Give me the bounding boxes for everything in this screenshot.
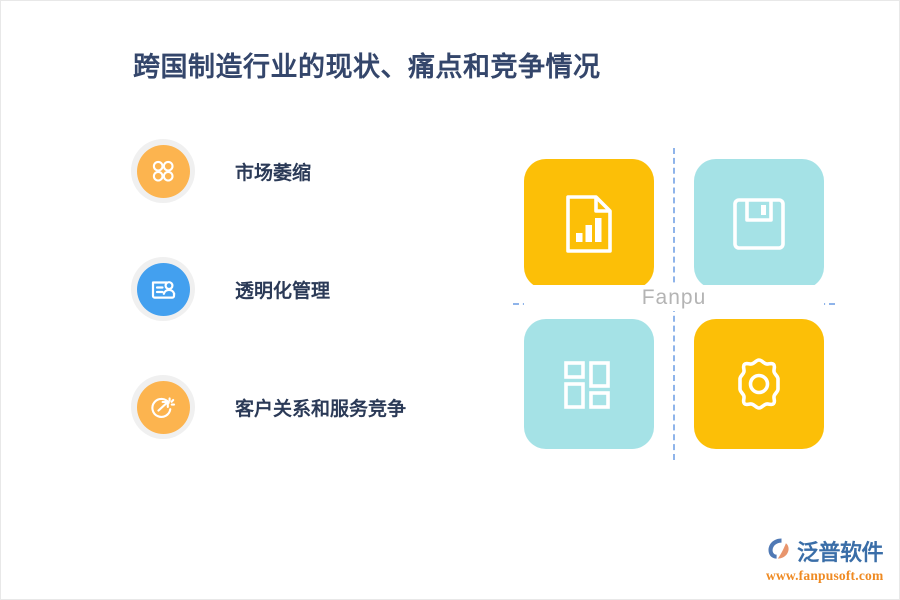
feature-icon-disc	[137, 381, 190, 434]
page-title: 跨国制造行业的现状、痛点和竞争情况	[133, 45, 601, 84]
brand-logo[interactable]: 泛普软件 www.fanpusoft.com	[766, 535, 891, 587]
document-bar-chart-icon	[561, 193, 617, 255]
four-dots-icon	[148, 156, 178, 186]
feature-item-transparent-management[interactable]: 透明化管理	[131, 257, 491, 321]
tile-settings-gear[interactable]	[694, 319, 824, 449]
feature-icon-disc	[137, 263, 190, 316]
brand-name: 泛普软件	[797, 535, 883, 567]
gear-settings-icon	[729, 354, 789, 414]
dashboard-grid-icon	[560, 355, 618, 413]
feature-list: 市场萎缩 透明化管理	[131, 139, 491, 493]
brand-logo-row: 泛普软件	[766, 535, 891, 567]
feature-icon-disc	[137, 145, 190, 198]
feature-icon-ring	[131, 257, 195, 321]
tile-grid: Fanpu	[524, 159, 824, 449]
brand-url: www.fanpusoft.com	[766, 568, 891, 584]
feature-label: 透明化管理	[235, 276, 330, 303]
feature-label: 市场萎缩	[235, 158, 311, 185]
fanpu-watermark: Fanpu	[524, 285, 824, 311]
tile-document-bar-chart[interactable]	[524, 159, 654, 289]
feature-icon-ring	[131, 375, 195, 439]
floppy-disk-save-icon	[730, 195, 788, 253]
slide-canvas: 跨国制造行业的现状、痛点和竞争情况 市场萎缩	[0, 0, 900, 600]
tile-save-floppy[interactable]	[694, 159, 824, 289]
feature-label: 客户关系和服务竞争	[235, 394, 406, 421]
feature-item-customer-service-competition[interactable]: 客户关系和服务竞争	[131, 375, 491, 439]
id-card-user-icon	[147, 273, 179, 305]
feature-item-market-shrinkage[interactable]: 市场萎缩	[131, 139, 491, 203]
feature-icon-ring	[131, 139, 195, 203]
tile-dashboard-grid[interactable]	[524, 319, 654, 449]
growth-arrow-icon	[147, 391, 179, 423]
fanpu-logo-mark-icon	[766, 535, 794, 567]
